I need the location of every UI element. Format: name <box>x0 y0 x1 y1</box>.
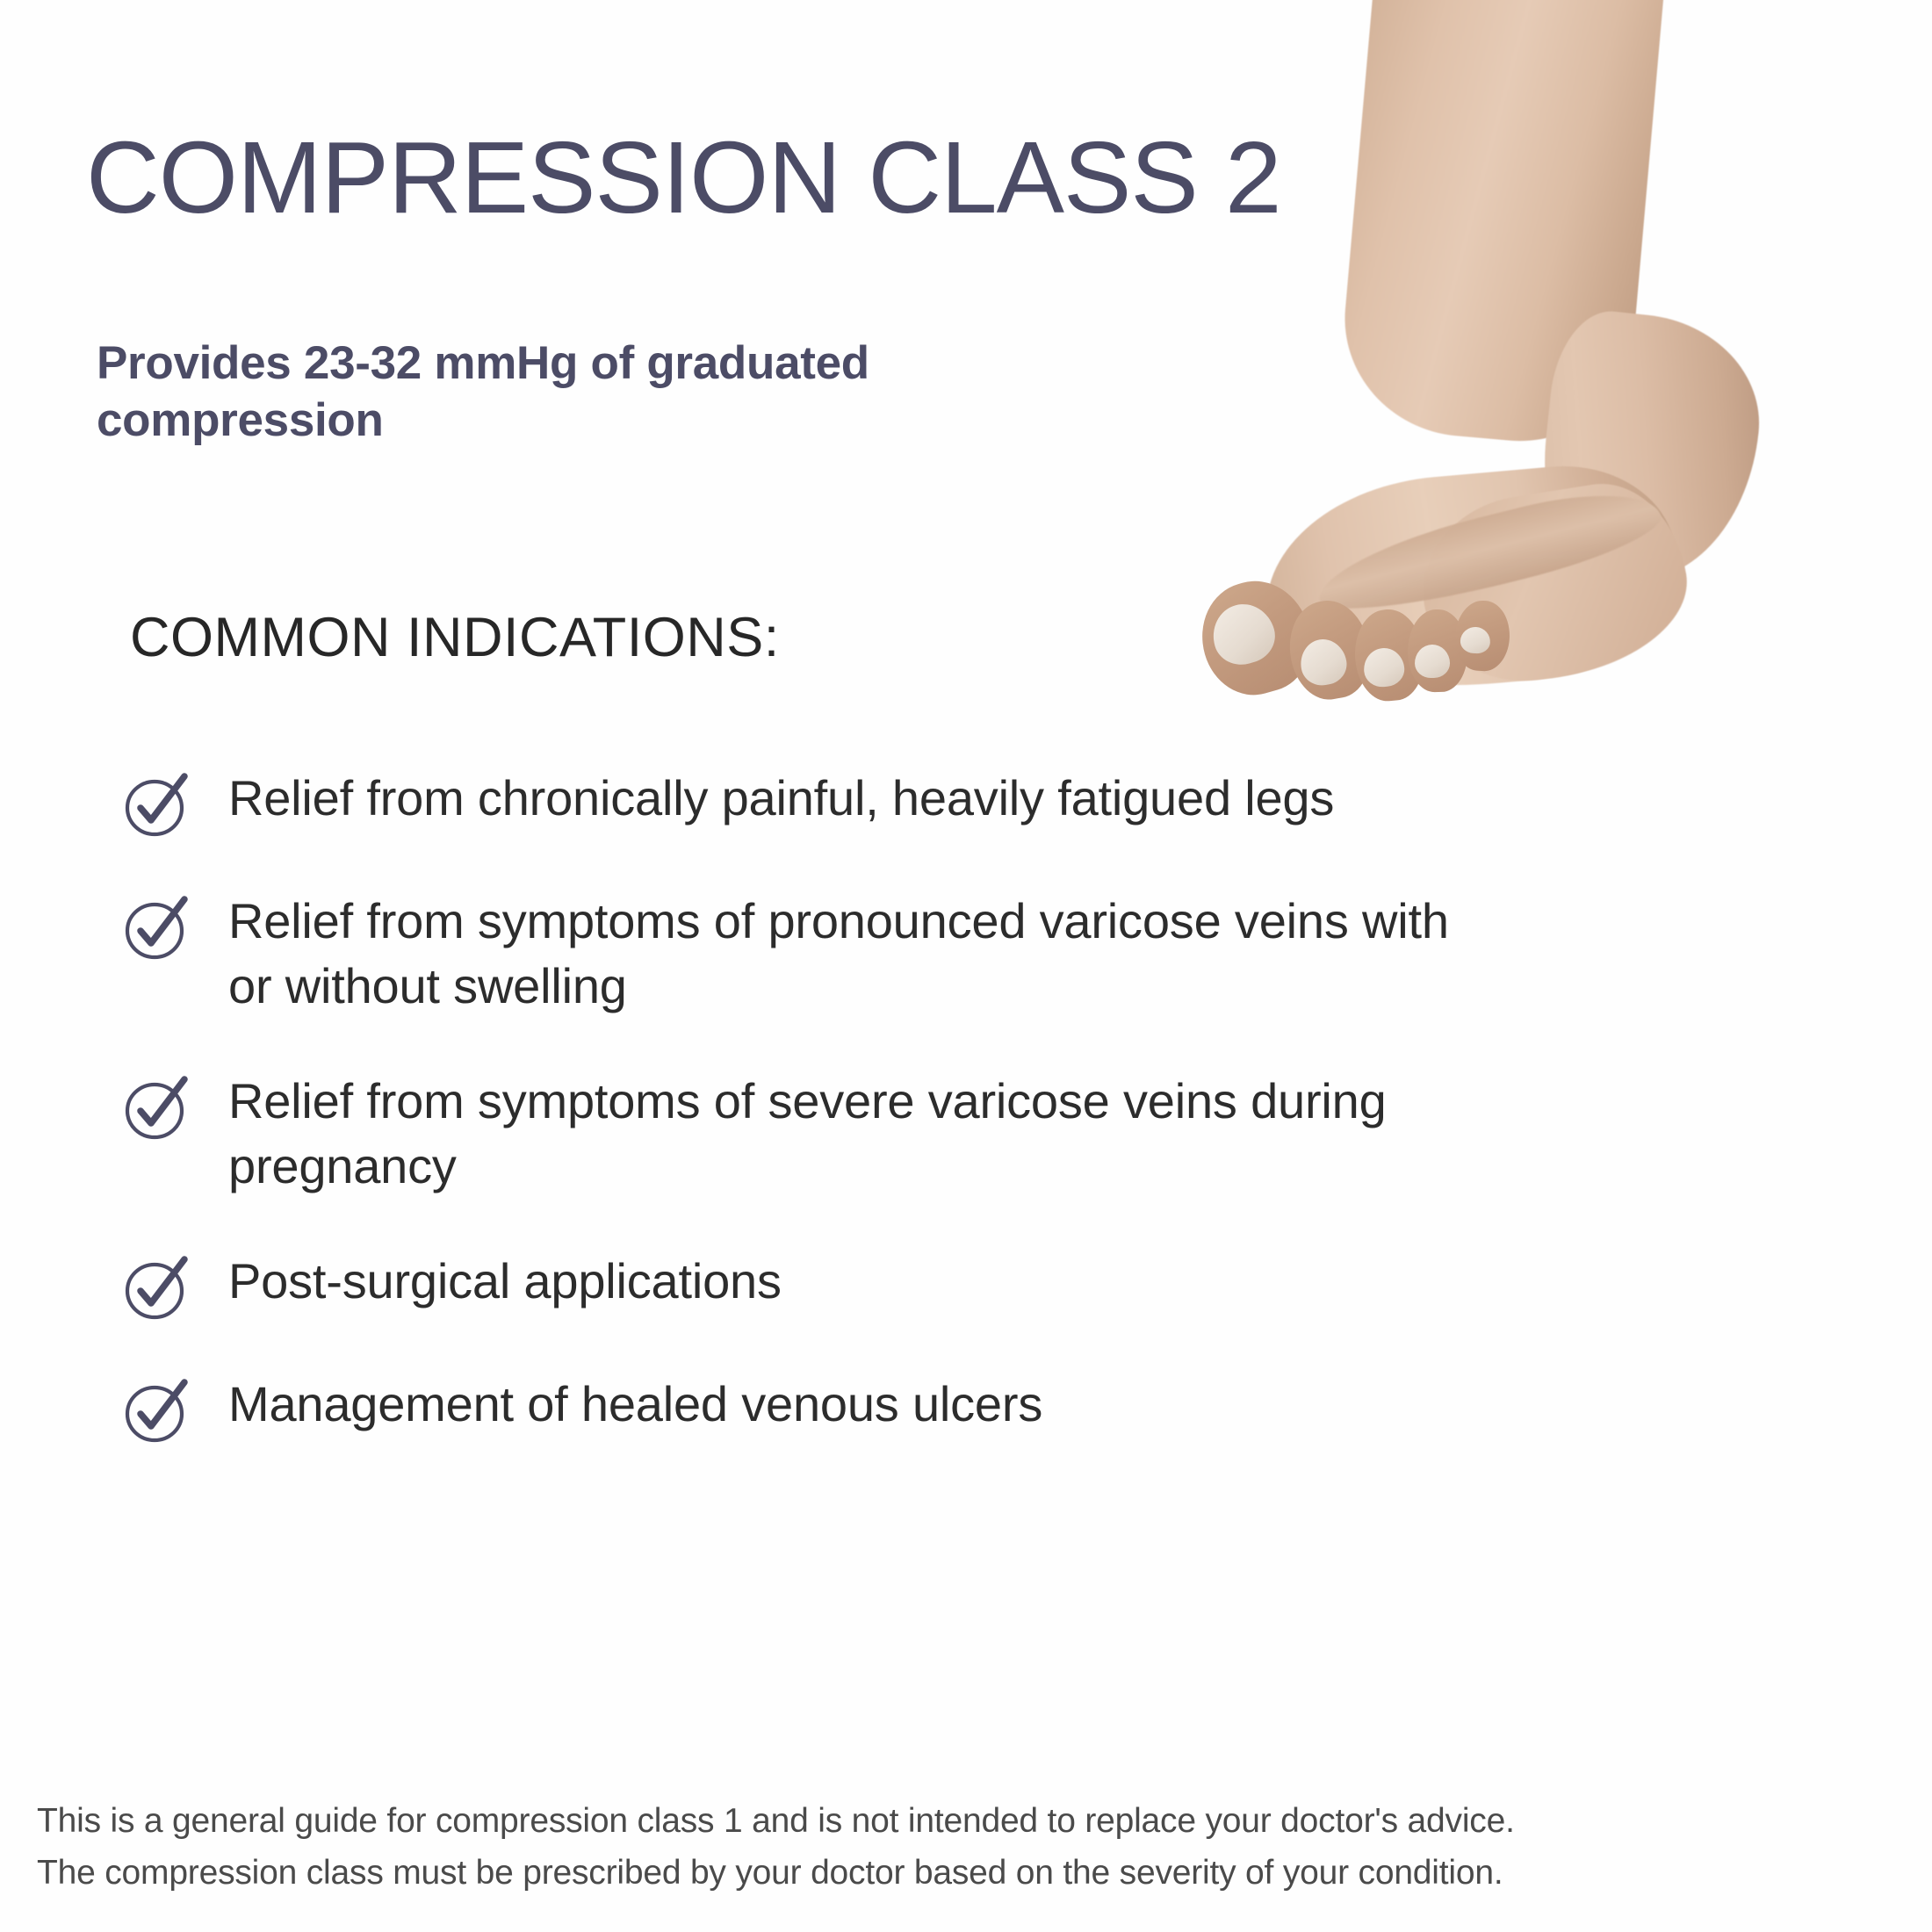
toenail-third <box>1362 646 1406 688</box>
section-heading-common-indications: COMMON INDICATIONS: <box>130 606 780 669</box>
list-item: Relief from symptoms of pronounced varic… <box>123 889 1616 1020</box>
list-item-label: Post-surgical applications <box>228 1249 782 1314</box>
toe-fourth <box>1407 609 1468 692</box>
list-item: Post-surgical applications <box>123 1249 1616 1323</box>
subtitle-compression-range: Provides 23-32 mmHg of graduated compres… <box>97 335 1133 449</box>
list-item-label: Relief from symptoms of severe varicose … <box>228 1069 1484 1200</box>
list-item: Relief from symptoms of severe varicose … <box>123 1069 1616 1200</box>
disclaimer-line-1: This is a general guide for compression … <box>37 1795 1899 1847</box>
toenail-fourth <box>1415 645 1451 679</box>
toe-second <box>1282 595 1377 705</box>
heel-shape <box>1532 306 1770 589</box>
list-item: Management of healed venous ulcers <box>123 1372 1616 1445</box>
toenail-little <box>1460 626 1491 654</box>
disclaimer-line-2: The compression class must be prescribed… <box>37 1847 1899 1899</box>
forefoot-shape <box>1409 472 1698 696</box>
check-circle-icon <box>123 892 191 962</box>
toe-little <box>1453 599 1511 673</box>
list-item-label: Relief from symptoms of pronounced varic… <box>228 889 1484 1020</box>
toe-third <box>1352 607 1428 703</box>
check-circle-icon <box>123 1252 191 1323</box>
instep-shape <box>1256 457 1685 703</box>
disclaimer-footer: This is a general guide for compression … <box>37 1795 1899 1900</box>
toenail-second <box>1297 636 1350 688</box>
list-item-label: Management of healed venous ulcers <box>228 1372 1042 1437</box>
lower-leg-shape <box>1335 0 1680 451</box>
indications-list: Relief from chronically painful, heavily… <box>123 766 1616 1445</box>
check-circle-icon <box>123 769 191 840</box>
page-title: COMPRESSION CLASS 2 <box>86 119 1280 236</box>
compression-class-infographic: COMPRESSION CLASS 2 Provides 23-32 mmHg … <box>0 0 1932 1932</box>
compression-stocking-foot-photo <box>1159 0 1932 790</box>
toenail-big <box>1206 597 1281 672</box>
toe-big <box>1189 569 1323 707</box>
check-circle-icon <box>123 1072 191 1143</box>
ankle-shape <box>1316 278 1678 591</box>
list-item: Relief from chronically painful, heavily… <box>123 766 1616 840</box>
list-item-label: Relief from chronically painful, heavily… <box>228 766 1334 831</box>
toes-group <box>1199 536 1515 698</box>
open-toe-band-shape <box>1309 475 1667 628</box>
check-circle-icon <box>123 1375 191 1445</box>
